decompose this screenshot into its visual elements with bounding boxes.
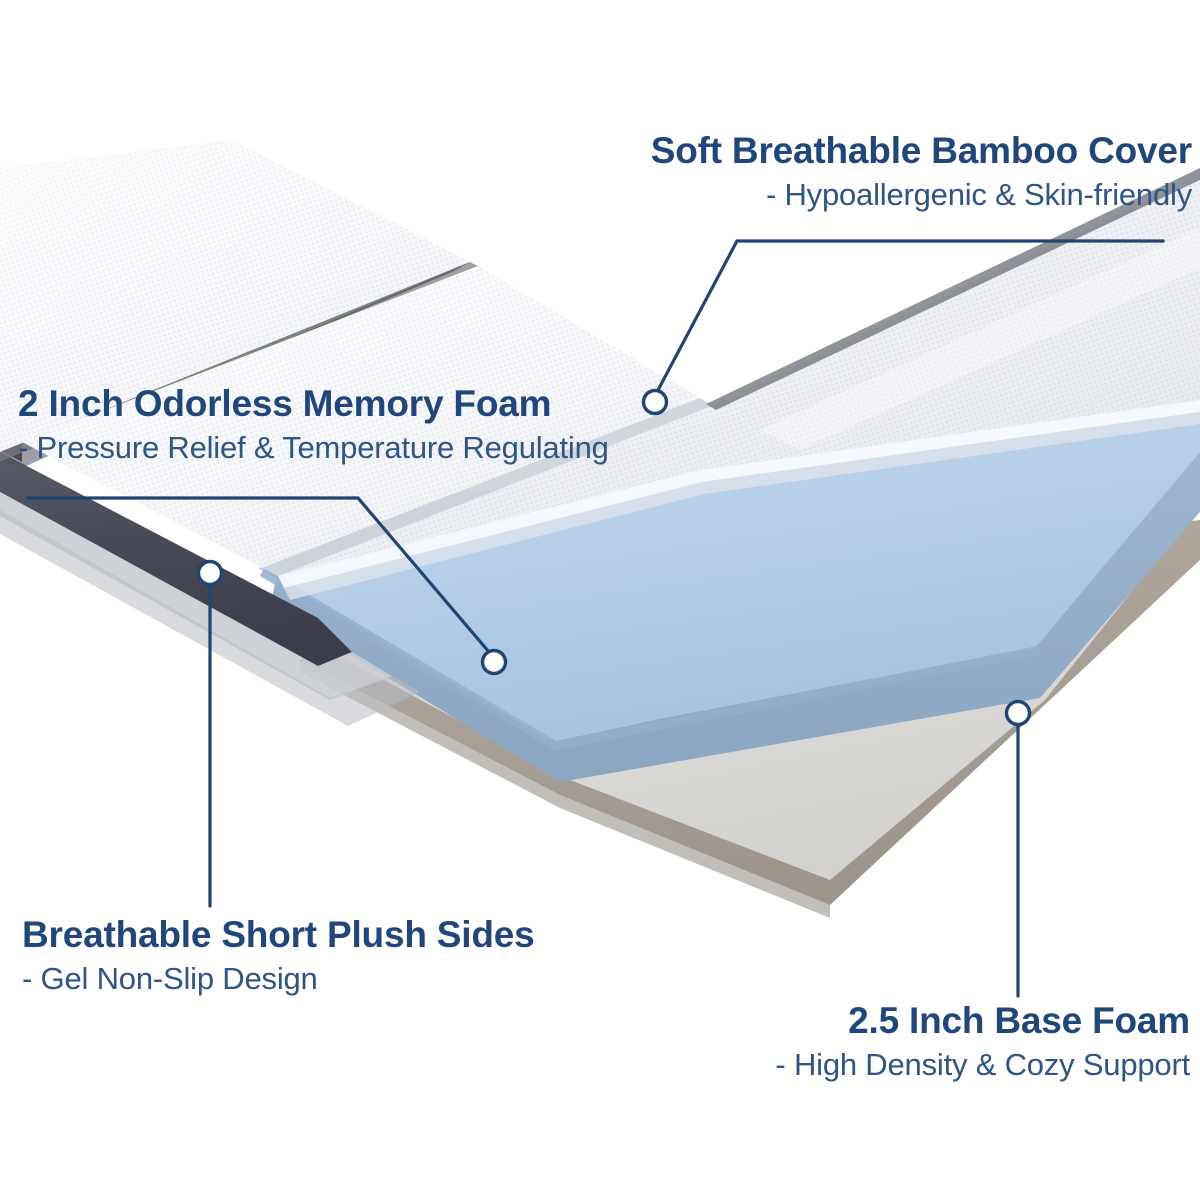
callout-plush-title: Breathable Short Plush Sides — [22, 916, 535, 954]
callout-plush-sides: Breathable Short Plush Sides - Gel Non-S… — [22, 916, 535, 996]
callout-dot-plush — [199, 562, 222, 585]
callout-memory-title: 2 Inch Odorless Memory Foam — [18, 385, 609, 423]
callout-dot-base — [1007, 702, 1030, 725]
callout-dot-bamboo — [644, 391, 667, 414]
callout-dot-memory — [483, 651, 506, 674]
callout-plush-subtitle: - Gel Non-Slip Design — [22, 963, 535, 996]
callout-bamboo-title: Soft Breathable Bamboo Cover — [651, 132, 1192, 170]
callout-base-title: 2.5 Inch Base Foam — [775, 1002, 1190, 1040]
infographic-canvas: Soft Breathable Bamboo Cover - Hypoaller… — [0, 0, 1200, 1200]
callout-memory-subtitle: - Pressure Relief & Temperature Regulati… — [18, 432, 609, 465]
callout-bamboo-subtitle: - Hypoallergenic & Skin-friendly — [651, 179, 1192, 212]
callout-base-subtitle: - High Density & Cozy Support — [775, 1049, 1190, 1082]
callout-bamboo-cover: Soft Breathable Bamboo Cover - Hypoaller… — [651, 132, 1192, 212]
callout-base-foam: 2.5 Inch Base Foam - High Density & Cozy… — [775, 1002, 1190, 1082]
callout-memory-foam: 2 Inch Odorless Memory Foam - Pressure R… — [18, 385, 609, 465]
